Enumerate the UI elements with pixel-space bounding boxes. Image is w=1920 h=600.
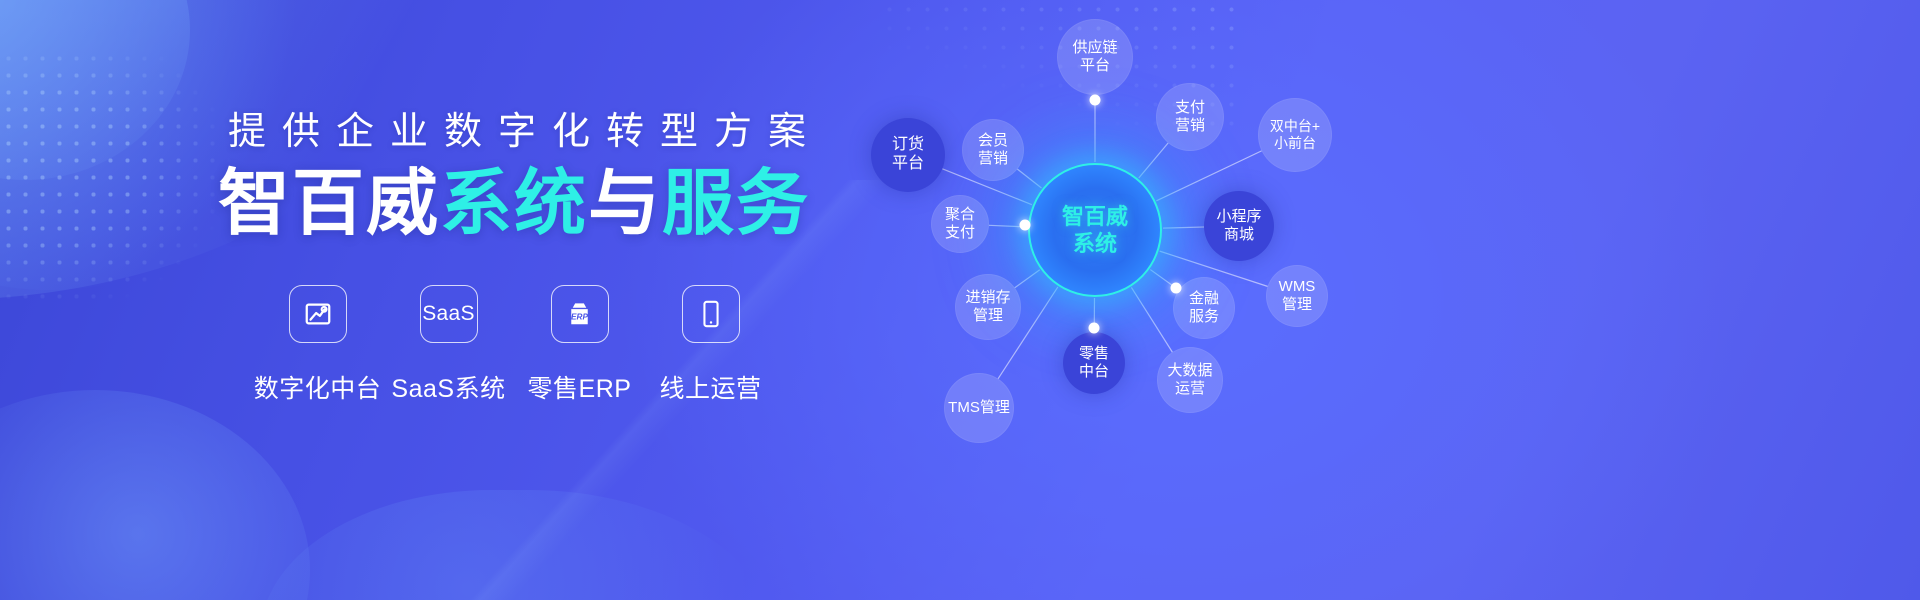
- feature-label-1: SaaS系统: [391, 369, 505, 405]
- diagram-node-1-line-1: 营销: [1175, 117, 1205, 135]
- diagram-node-4-line-0: 订货: [892, 136, 924, 155]
- diagram-node-3-line-0: 会员: [978, 132, 1008, 150]
- headline-run-3: 服务: [662, 164, 810, 244]
- headline-run-1: 系统: [440, 164, 588, 244]
- diagram-node-7-line-0: WMS: [1279, 278, 1316, 296]
- diagram-node-4-line-1: 平台: [892, 155, 924, 174]
- diagram-node-11-line-1: 运营: [1175, 380, 1205, 398]
- svg-text:ERP: ERP: [571, 312, 588, 321]
- core-node-zhibaiwei-system[interactable]: 智百威 系统: [1028, 163, 1162, 297]
- connector-line-3: [1017, 169, 1041, 188]
- diagram-node-12[interactable]: TMS管理: [944, 373, 1014, 443]
- feature-item-0[interactable]: 数字化中台: [252, 285, 383, 405]
- system-network-diagram: 智百威 系统 供应链平台支付营销双中台+小前台会员营销订货平台小程序商城聚合支付…: [840, 0, 1920, 600]
- diagram-node-1-line-0: 支付: [1175, 99, 1205, 117]
- feature-label-0: 数字化中台: [254, 369, 382, 405]
- banner-left-content: 提供企业数字化转型方案 智百威系统与服务 数字化中台SaaSSaaS系统ERP零…: [0, 0, 880, 600]
- diagram-node-6-line-0: 聚合: [945, 206, 975, 224]
- diagram-node-10-line-0: 零售: [1079, 345, 1109, 363]
- feature-label-3: 线上运营: [659, 369, 761, 405]
- feature-label-2: 零售ERP: [528, 369, 632, 405]
- feature-item-3[interactable]: 线上运营: [645, 285, 776, 405]
- feature-icon-box-2: ERP: [551, 285, 609, 343]
- connector-line-8: [1015, 270, 1040, 288]
- diagram-node-7-line-1: 管理: [1282, 296, 1312, 314]
- connector-dot-3: [1089, 323, 1100, 334]
- diagram-node-11[interactable]: 大数据运营: [1157, 347, 1223, 413]
- core-node-line1: 智百威: [1062, 203, 1128, 231]
- diagram-node-3[interactable]: 会员营销: [962, 119, 1024, 181]
- diagram-node-2-line-0: 双中台+: [1270, 118, 1320, 135]
- diagram-node-10-line-1: 中台: [1079, 363, 1109, 381]
- diagram-node-1[interactable]: 支付营销: [1156, 83, 1224, 151]
- diagram-node-5-line-0: 小程序: [1216, 208, 1261, 226]
- diagram-node-9[interactable]: 金融服务: [1173, 277, 1235, 339]
- banner-headline: 智百威系统与服务: [218, 168, 810, 240]
- connector-dot-0: [1090, 95, 1101, 106]
- diagram-node-9-line-0: 金融: [1189, 290, 1219, 308]
- banner-subtitle: 提供企业数字化转型方案: [228, 100, 822, 155]
- connector-line-1: [1139, 143, 1168, 178]
- diagram-node-8[interactable]: 进销存管理: [955, 274, 1021, 340]
- diagram-node-10[interactable]: 零售中台: [1063, 332, 1125, 394]
- connector-dot-1: [1020, 220, 1031, 231]
- diagram-node-5-line-1: 商城: [1224, 226, 1254, 244]
- saas-text-icon: SaaS: [422, 302, 475, 326]
- headline-run-0: 智百威: [218, 164, 440, 244]
- diagram-node-7[interactable]: WMS管理: [1266, 265, 1328, 327]
- connector-line-5: [1163, 227, 1204, 228]
- promo-banner: 提供企业数字化转型方案 智百威系统与服务 数字化中台SaaSSaaS系统ERP零…: [0, 0, 1920, 600]
- connector-dot-2: [1171, 283, 1182, 294]
- diagram-node-6[interactable]: 聚合支付: [931, 195, 989, 253]
- diagram-node-0-line-1: 平台: [1080, 57, 1110, 75]
- connector-line-11: [1131, 287, 1172, 352]
- feature-item-1[interactable]: SaaSSaaS系统: [383, 285, 514, 405]
- diagram-node-0-line-0: 供应链: [1072, 39, 1117, 57]
- erp-box-icon: ERP: [564, 299, 595, 330]
- feature-icon-box-1: SaaS: [420, 285, 478, 343]
- feature-icon-box-0: [289, 285, 347, 343]
- diagram-node-5[interactable]: 小程序商城: [1204, 191, 1274, 261]
- diagram-node-6-line-1: 支付: [945, 224, 975, 242]
- diagram-node-2-line-1: 小前台: [1274, 135, 1316, 152]
- diagram-node-8-line-1: 管理: [973, 307, 1003, 325]
- diagram-node-0[interactable]: 供应链平台: [1057, 19, 1133, 95]
- core-node-line2: 系统: [1073, 230, 1117, 258]
- image-chart-icon: [303, 299, 333, 329]
- diagram-node-12-line-0: TMS管理: [948, 399, 1010, 417]
- diagram-node-8-line-0: 进销存: [965, 289, 1010, 307]
- feature-item-2[interactable]: ERP零售ERP: [514, 285, 645, 405]
- feature-icon-box-3: [682, 285, 740, 343]
- diagram-node-3-line-1: 营销: [978, 150, 1008, 168]
- feature-list: 数字化中台SaaSSaaS系统ERP零售ERP线上运营: [252, 285, 776, 405]
- mobile-phone-icon: [696, 299, 726, 329]
- diagram-node-11-line-0: 大数据: [1167, 362, 1212, 380]
- diagram-node-4[interactable]: 订货平台: [871, 118, 945, 192]
- diagram-node-9-line-1: 服务: [1189, 308, 1219, 326]
- diagram-node-2[interactable]: 双中台+小前台: [1258, 98, 1332, 172]
- headline-run-2: 与: [588, 164, 662, 244]
